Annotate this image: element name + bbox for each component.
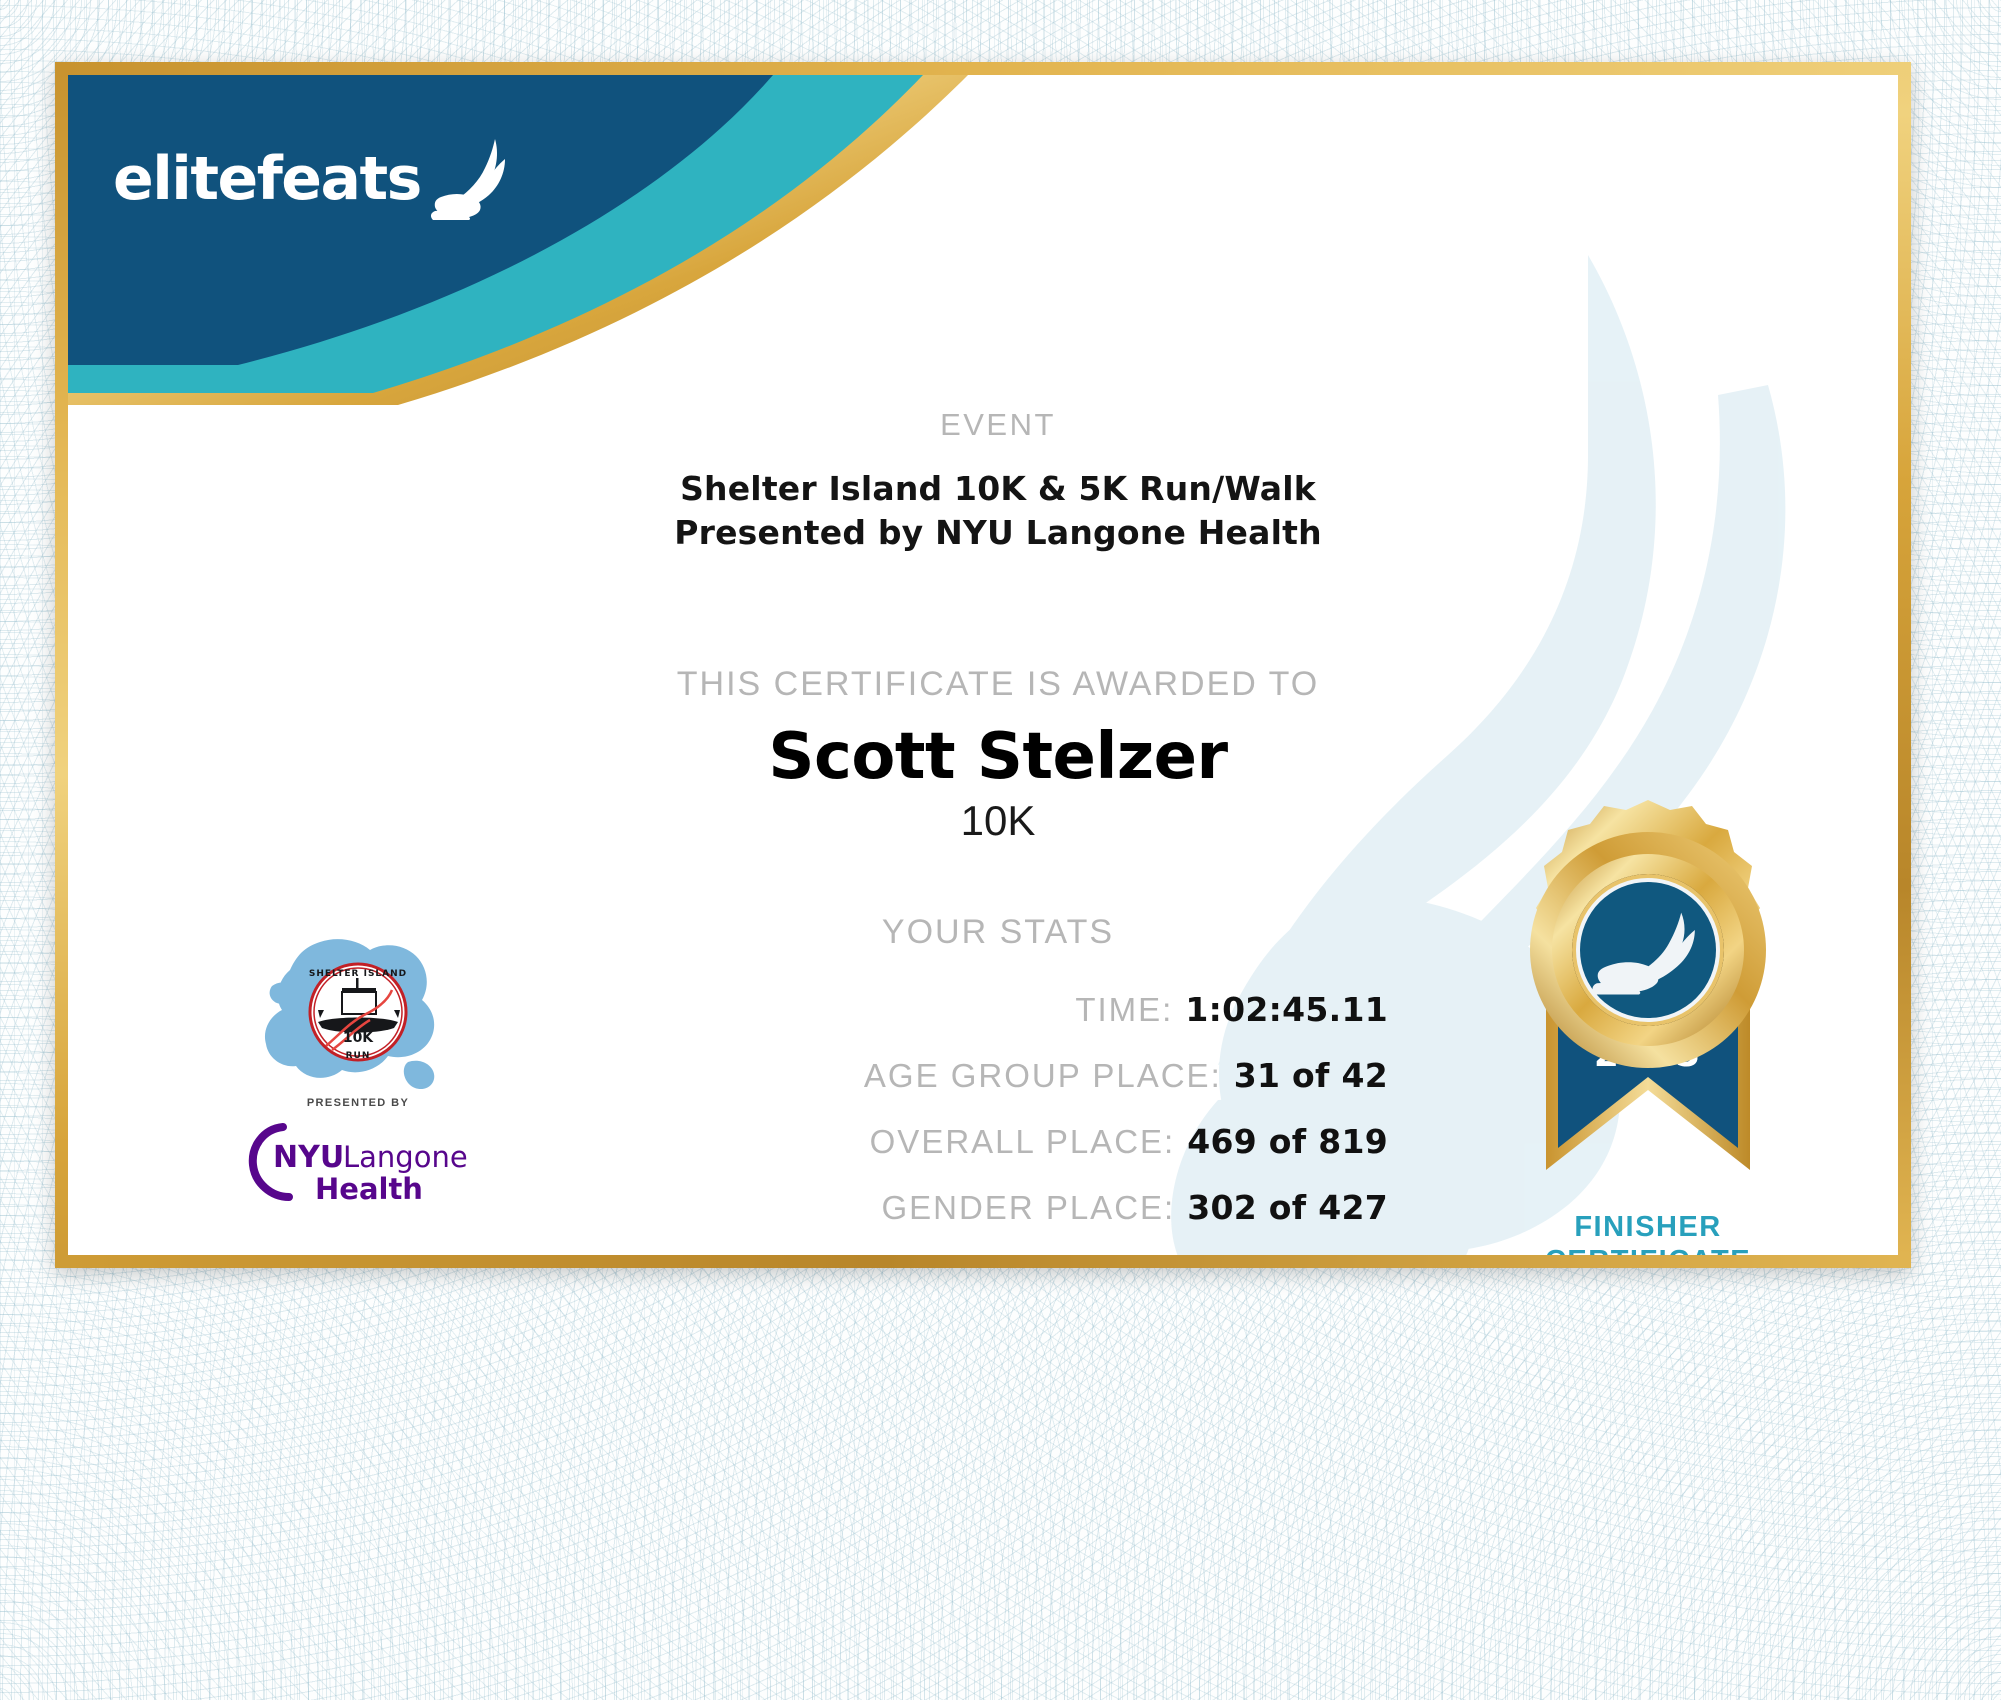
finisher-caption-line1: FINISHER (1448, 1210, 1848, 1244)
stat-row: TIME: 1:02:45.11 (368, 990, 1388, 1029)
recipient-name: Scott Stelzer (268, 720, 1728, 794)
stat-value: 1:02:45.11 (1185, 990, 1388, 1029)
stat-key: OVERALL PLACE: (870, 1123, 1176, 1161)
stat-row: AGE GROUP PLACE: 31 of 42 (368, 1056, 1388, 1095)
stat-key: TIME: (1075, 991, 1173, 1029)
brand-logo: elitefeats (113, 137, 513, 221)
stats-list: TIME: 1:02:45.11 AGE GROUP PLACE: 31 of … (368, 990, 1388, 1254)
stat-value: 302 of 427 (1187, 1188, 1388, 1227)
finisher-medal: 2025 (1468, 800, 1828, 1200)
svg-text:Health: Health (315, 1172, 423, 1206)
stat-value: 469 of 819 (1187, 1122, 1388, 1161)
stat-row: GENDER PLACE: 302 of 427 (368, 1188, 1388, 1227)
header-swoosh (68, 75, 1168, 405)
stat-key: GENDER PLACE: (881, 1189, 1175, 1227)
svg-text:10K: 10K (343, 1030, 374, 1046)
svg-text:NYU: NYU (273, 1140, 344, 1175)
awarded-to-label: THIS CERTIFICATE IS AWARDED TO (268, 665, 1728, 704)
winged-shoe-icon (425, 137, 513, 221)
brand-name: elitefeats (113, 149, 421, 209)
event-name-line1: Shelter Island 10K & 5K Run/Walk (348, 467, 1648, 511)
event-label: EVENT (348, 407, 1648, 443)
nyu-langone-health-logo: NYU Langone Health (243, 1115, 473, 1210)
event-name: Shelter Island 10K & 5K Run/Walk Present… (348, 467, 1648, 555)
svg-text:SHELTER ISLAND: SHELTER ISLAND (309, 969, 407, 979)
event-name-line2: Presented by NYU Langone Health (348, 511, 1648, 555)
finisher-caption-line2: CERTIFICATE (1448, 1244, 1848, 1268)
svg-text:RUN: RUN (346, 1051, 371, 1061)
presented-by-label: PRESENTED BY (258, 1097, 458, 1109)
svg-text:Langone: Langone (343, 1140, 468, 1174)
stat-row: OVERALL PLACE: 469 of 819 (368, 1122, 1388, 1161)
certificate-card: elitefeats EVENT Shelter Island 10K & 5K… (55, 62, 1911, 1268)
stat-key: AGE GROUP PLACE: (864, 1057, 1222, 1095)
finisher-caption: FINISHER CERTIFICATE (1448, 1210, 1848, 1268)
shelter-island-race-logo: 10K SHELTER ISLAND RUN (258, 930, 458, 1100)
stat-value: 31 of 42 (1234, 1056, 1388, 1095)
